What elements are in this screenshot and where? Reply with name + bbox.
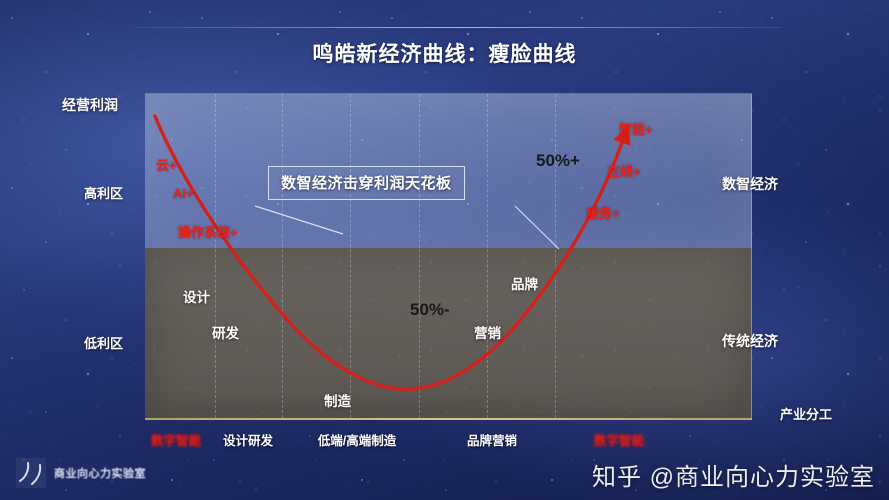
y-axis-title: 经营利润 <box>62 95 118 115</box>
x-axis-title: 产业分工 <box>780 404 832 423</box>
callout-leader-line-2 <box>515 206 559 249</box>
stage-label-1: 研发 <box>212 322 239 342</box>
percent-label-0: 50%+ <box>536 151 580 171</box>
title-divider <box>132 27 782 28</box>
x-axis-tick-2: 低端/高端制造 <box>318 430 396 449</box>
region-label-digital-economy: 数智经济 <box>722 174 778 194</box>
callout-box: 数智经济击穿利润天花板 <box>268 166 465 200</box>
plot-area: 数智经济击穿利润天花板 云+AI+操作系统+智能+在线+服务+ 设计研发制造营销… <box>145 94 752 418</box>
x-axis-tick-0: 数字智能 <box>151 430 201 449</box>
x-axis-tick-1: 设计研发 <box>223 430 273 449</box>
curve-label-3: 智能+ <box>619 119 653 138</box>
x-axis-tick-3: 品牌营销 <box>467 430 517 449</box>
x-axis-tick-4: 数字智能 <box>594 430 644 449</box>
brand-logo: 商业向心力实验室 <box>16 458 146 488</box>
y-axis-tick-low-profit: 低利区 <box>84 333 123 352</box>
curve-label-2: 操作系统+ <box>178 222 238 241</box>
percent-label-1: 50%- <box>410 300 450 320</box>
page-title: 鸣皓新经济曲线：瘦脸曲线 <box>0 38 889 68</box>
stage-label-0: 设计 <box>183 286 210 306</box>
watermark-text: 知乎 @商业向心力实验室 <box>592 457 875 492</box>
callout-leader-line <box>255 206 343 234</box>
y-axis-tick-high-profit: 高利区 <box>84 183 123 202</box>
slide-canvas: 鸣皓新经济曲线：瘦脸曲线 经营利润 高利区 低利区 数智经济击穿利润天花板 云 <box>0 0 889 500</box>
profit-curve-svg <box>145 94 752 420</box>
curve-label-1: AI+ <box>173 186 194 201</box>
logo-mark-icon <box>16 458 46 488</box>
stage-label-4: 品牌 <box>511 273 538 293</box>
region-label-traditional-economy: 传统经济 <box>722 331 778 351</box>
curve-label-0: 云+ <box>156 155 177 174</box>
stage-label-2: 制造 <box>324 390 351 410</box>
logo-text: 商业向心力实验室 <box>54 465 146 481</box>
stage-label-3: 营销 <box>474 322 501 342</box>
curve-label-5: 服务+ <box>586 203 620 222</box>
curve-label-4: 在线+ <box>607 161 641 180</box>
